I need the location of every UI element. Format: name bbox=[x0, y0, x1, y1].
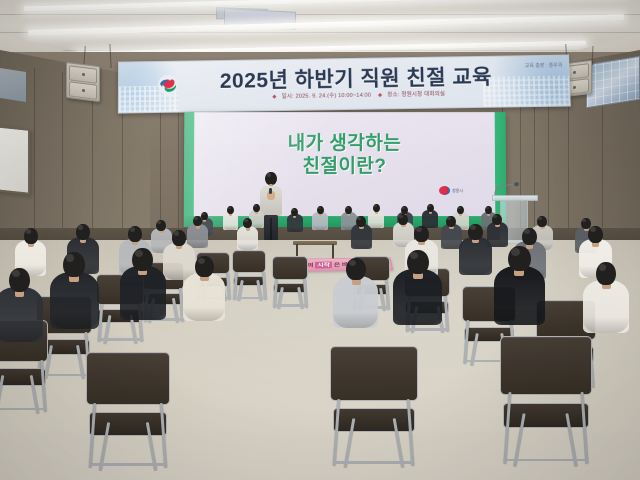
chair-backrest bbox=[272, 256, 308, 280]
slide-title-line1: 내가 생각하는 bbox=[194, 132, 495, 155]
chair-backrest bbox=[500, 336, 592, 395]
chair-rail bbox=[0, 408, 46, 411]
audience-member bbox=[312, 206, 328, 231]
chair-seat bbox=[89, 412, 168, 435]
audience-head bbox=[253, 204, 260, 212]
audience-head bbox=[345, 206, 352, 214]
chair-rail bbox=[89, 463, 166, 466]
audience-head bbox=[537, 216, 547, 227]
chair-seat bbox=[503, 403, 589, 429]
audience-member bbox=[582, 262, 630, 334]
folding-chair bbox=[500, 336, 592, 464]
audience-member bbox=[236, 218, 258, 251]
chair-leg bbox=[464, 320, 470, 364]
chair-leg bbox=[444, 296, 449, 332]
folding-chair bbox=[272, 256, 308, 308]
audience-member bbox=[492, 246, 546, 326]
chair-rail bbox=[334, 461, 415, 464]
audience-head bbox=[243, 218, 252, 228]
handheld-microphone bbox=[269, 188, 272, 194]
audience-head bbox=[468, 224, 483, 240]
audience-head bbox=[401, 206, 408, 214]
chair-rail bbox=[98, 338, 142, 341]
audience-member bbox=[286, 208, 303, 233]
audience-head bbox=[346, 258, 366, 280]
slide-content-area: 내가 생각하는 친절이란? 청원시 bbox=[194, 112, 496, 216]
audience-head bbox=[522, 228, 537, 245]
bullet-icon: ◆ bbox=[272, 94, 277, 100]
lecture-hall-photo: 2025년 하반기 직원 친절 교육 ◆일시: 2025. 9. 24.(수) … bbox=[0, 0, 640, 480]
audience-head bbox=[446, 216, 456, 227]
event-banner: 2025년 하반기 직원 친절 교육 ◆일시: 2025. 9. 24.(수) … bbox=[118, 55, 571, 114]
wall-whiteboard bbox=[0, 125, 30, 195]
audience-head bbox=[24, 228, 38, 244]
floor-banner-highlight: 시작 bbox=[315, 261, 332, 268]
bullet-icon-2: ◆ bbox=[378, 92, 383, 98]
audience-head bbox=[76, 224, 90, 240]
audience-member bbox=[0, 268, 44, 343]
audience-member bbox=[118, 248, 167, 321]
audience-head bbox=[407, 250, 429, 274]
audience-head bbox=[373, 204, 380, 212]
audience-head bbox=[193, 216, 202, 226]
audience-member bbox=[182, 256, 226, 322]
banner-date-label: 일시 bbox=[282, 94, 293, 100]
audience-head bbox=[588, 226, 603, 243]
audience-head bbox=[128, 226, 142, 242]
chair-leg bbox=[262, 272, 266, 300]
slide-logo-text: 청원시 bbox=[452, 188, 463, 194]
chair-rail bbox=[233, 297, 264, 300]
audience-head bbox=[317, 206, 324, 214]
audience-head bbox=[414, 226, 429, 242]
window-left bbox=[0, 68, 26, 102]
chair-backrest bbox=[232, 250, 266, 273]
chair-leg bbox=[40, 360, 46, 412]
audience-head bbox=[508, 246, 531, 271]
banner-place-value: 청원시청 대회의실 bbox=[401, 91, 445, 98]
audience-head bbox=[485, 206, 492, 214]
audience-head bbox=[356, 216, 366, 227]
folding-chair bbox=[86, 352, 170, 468]
ceiling-speaker-left bbox=[66, 62, 100, 102]
slide-footer-logo: 청원시 bbox=[439, 185, 473, 196]
audience-member bbox=[350, 216, 372, 250]
banner-corner-note: 교육 총괄 : 총무과 bbox=[525, 62, 563, 70]
audience-member bbox=[458, 224, 492, 276]
banner-date-value: 2025. 9. 24.(수) 10:00~14:00 bbox=[296, 93, 372, 100]
slide-title-line2: 친절이란? bbox=[194, 155, 495, 178]
audience-head bbox=[195, 256, 214, 277]
city-emblem-logo bbox=[157, 74, 179, 96]
audience-head bbox=[132, 248, 153, 271]
banner-decoration-left bbox=[119, 61, 193, 112]
chair-backrest bbox=[330, 346, 418, 401]
audience-head bbox=[398, 214, 408, 225]
city-mark-icon bbox=[439, 186, 450, 195]
banner-place-label: 장소 bbox=[387, 92, 398, 98]
folding-chair bbox=[330, 346, 418, 466]
chair-seat bbox=[233, 276, 265, 286]
audience-member bbox=[48, 252, 100, 330]
audience-member bbox=[392, 250, 443, 327]
chair-rail bbox=[273, 304, 306, 307]
audience-head bbox=[63, 252, 85, 277]
slide-border-left bbox=[184, 112, 195, 227]
slide-title: 내가 생각하는 친절이란? bbox=[194, 132, 495, 178]
window-right bbox=[586, 56, 640, 109]
chair-leg bbox=[233, 272, 237, 300]
audience-head bbox=[227, 206, 234, 214]
audience-head bbox=[291, 208, 298, 216]
audience-head bbox=[596, 262, 616, 285]
chair-seat bbox=[273, 283, 307, 293]
chair-seat bbox=[0, 368, 46, 386]
chair-leg bbox=[226, 273, 230, 300]
audience-member bbox=[332, 258, 379, 329]
folding-chair bbox=[232, 250, 266, 300]
audience-head bbox=[9, 268, 30, 292]
audience-head bbox=[172, 230, 186, 246]
audience-head bbox=[457, 206, 464, 214]
audience-head bbox=[427, 204, 434, 212]
chair-rail bbox=[406, 328, 448, 331]
chair-seat bbox=[333, 408, 416, 432]
chair-backrest bbox=[86, 352, 170, 405]
audience-head bbox=[492, 214, 502, 225]
